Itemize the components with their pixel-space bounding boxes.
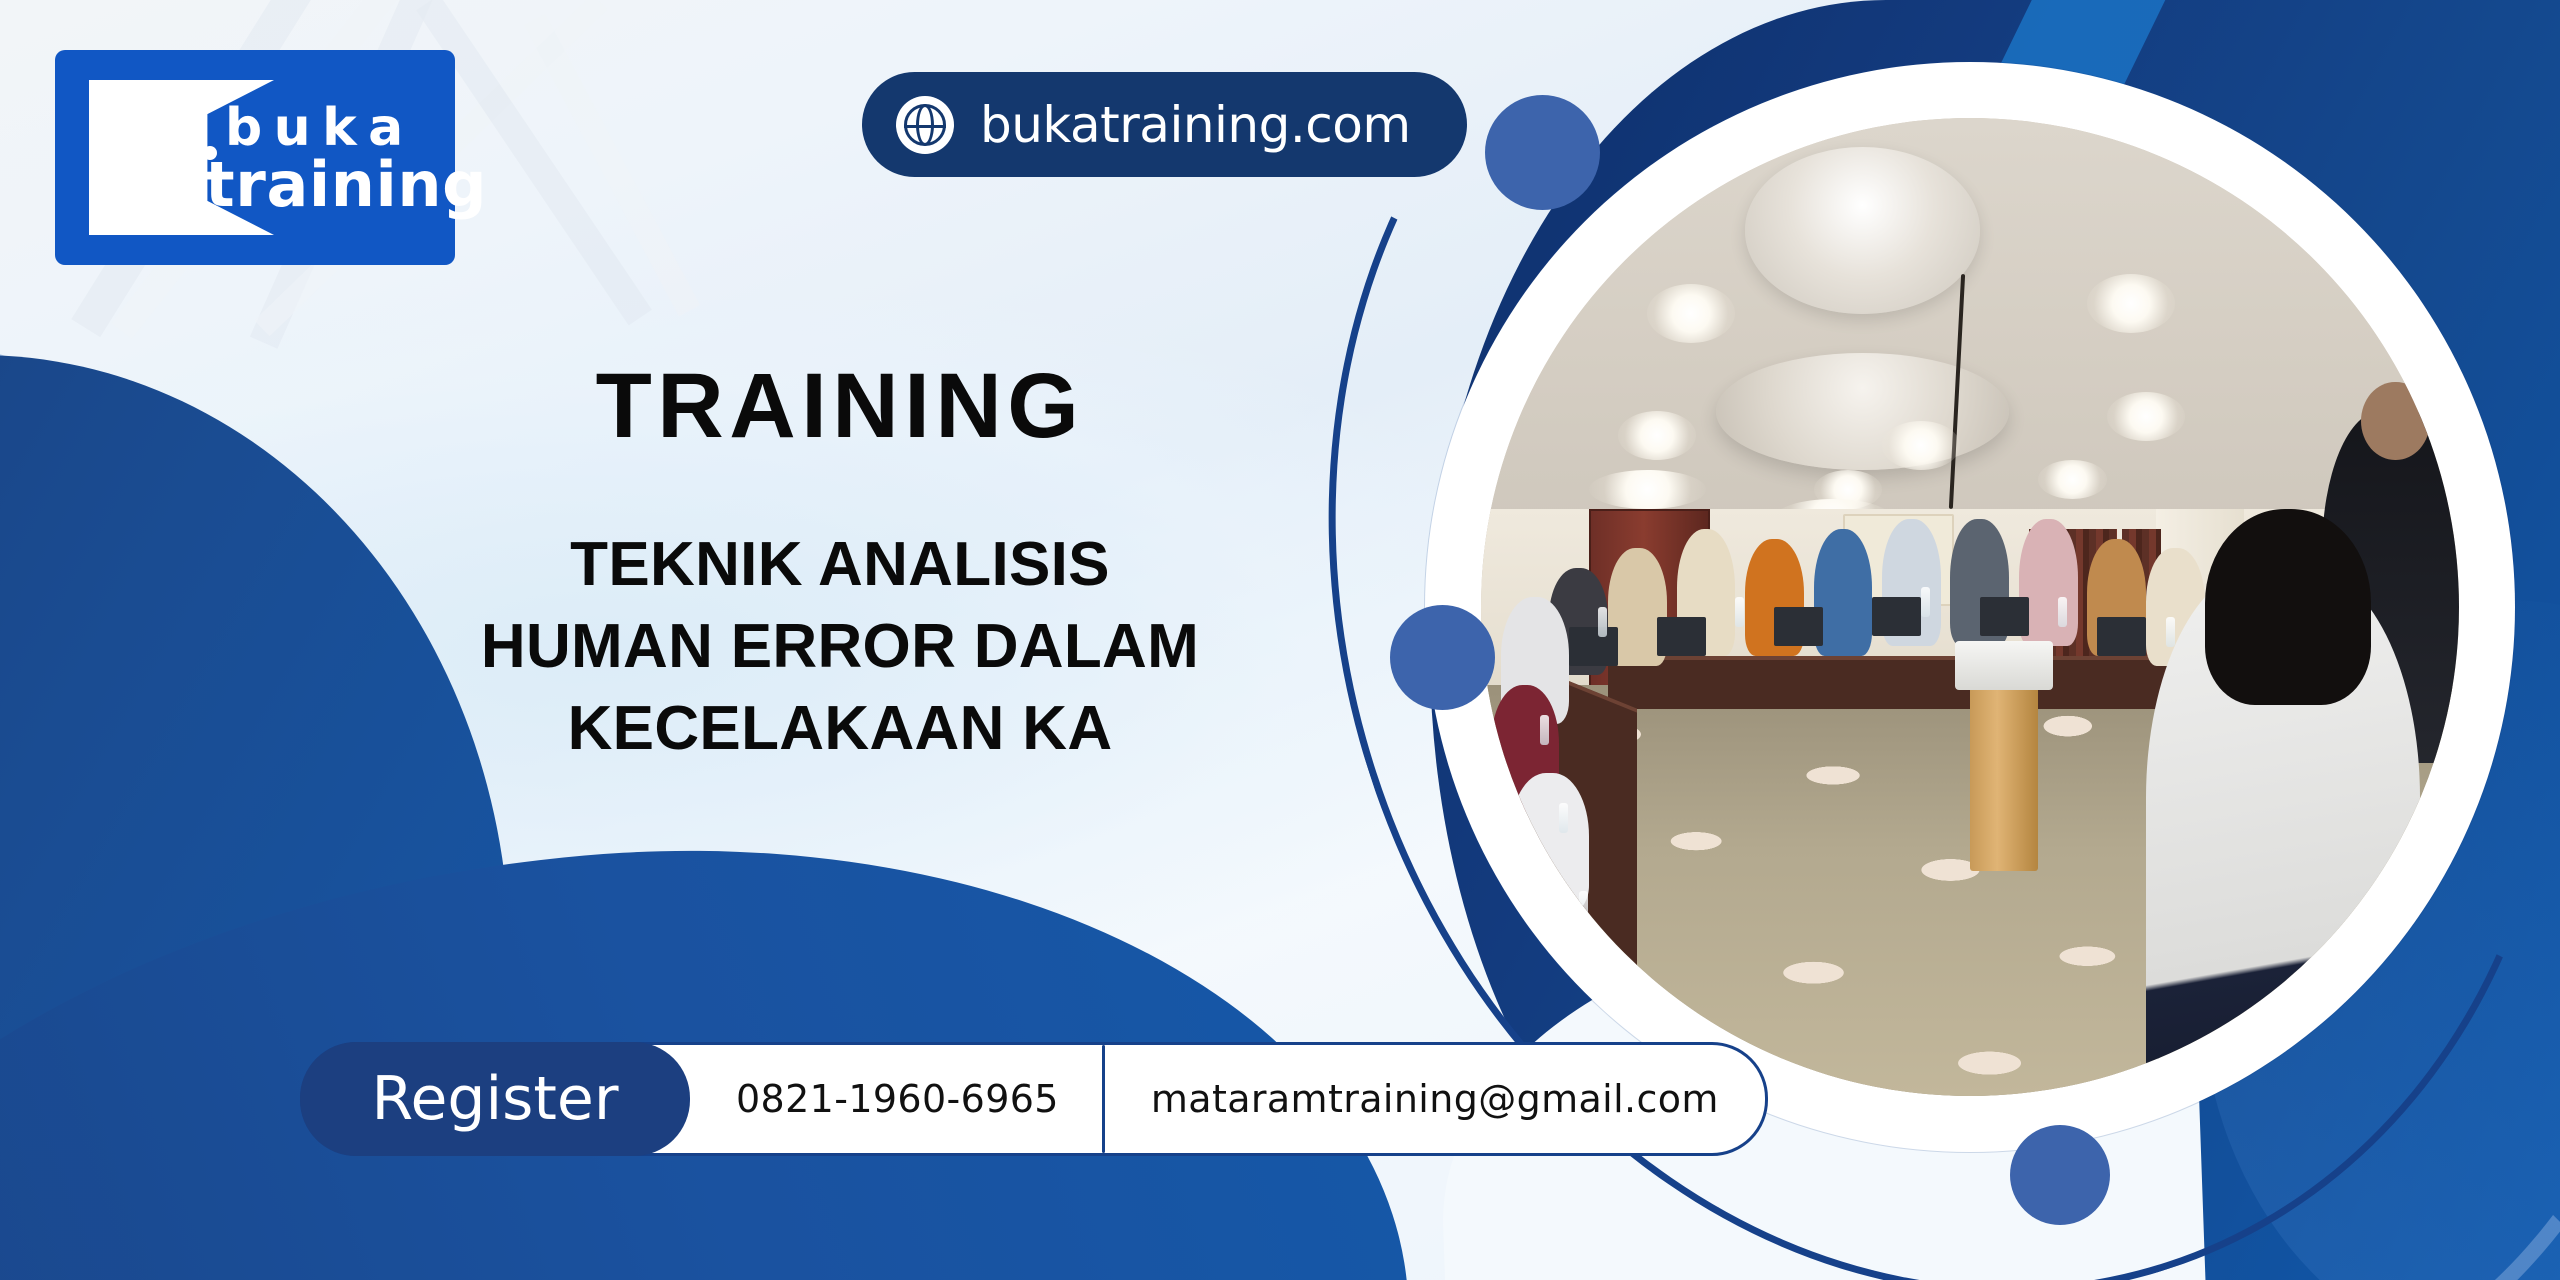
promo-banner: buka training bukatraining.com TRAINING … (0, 0, 2560, 1280)
eyebrow-training: TRAINING (330, 360, 1350, 452)
wooden-podium (1970, 675, 2038, 871)
course-title-line-2: HUMAN ERROR DALAM (330, 606, 1350, 688)
register-bar: Register 0821-1960-6965 mataramtraining@… (300, 1042, 1768, 1156)
male-presenter-head (2361, 382, 2429, 460)
projector (1955, 641, 2053, 690)
photo-ring (1425, 62, 2515, 1152)
training-room-photo (1481, 118, 2459, 1096)
ceiling-dome-lower (1716, 353, 2009, 470)
female-presenter-hair (2205, 509, 2371, 705)
logo-word-buka: buka (225, 102, 415, 154)
ceiling-dome-upper (1745, 147, 1980, 313)
participant (1510, 773, 1588, 910)
buka-training-logo[interactable]: buka training (55, 50, 455, 265)
website-badge[interactable]: bukatraining.com (862, 72, 1467, 177)
decor-dot-left (1390, 605, 1495, 710)
email-address[interactable]: mataramtraining@gmail.com (1105, 1045, 1765, 1153)
decor-dot-bottom (2010, 1125, 2110, 1225)
phone-number[interactable]: 0821-1960-6965 (690, 1045, 1105, 1153)
course-title-line-1: TEKNIK ANALISIS (330, 524, 1350, 606)
headline-block: TRAINING TEKNIK ANALISIS HUMAN ERROR DAL… (330, 360, 1350, 769)
register-button[interactable]: Register (300, 1042, 690, 1156)
website-url: bukatraining.com (980, 96, 1411, 154)
decor-dot-top (1485, 95, 1600, 210)
course-title: TEKNIK ANALISIS HUMAN ERROR DALAM KECELA… (330, 524, 1350, 769)
logo-word-training: training (205, 154, 487, 216)
globe-icon (896, 96, 954, 154)
course-title-line-3: KECELAKAAN KA (330, 688, 1350, 770)
